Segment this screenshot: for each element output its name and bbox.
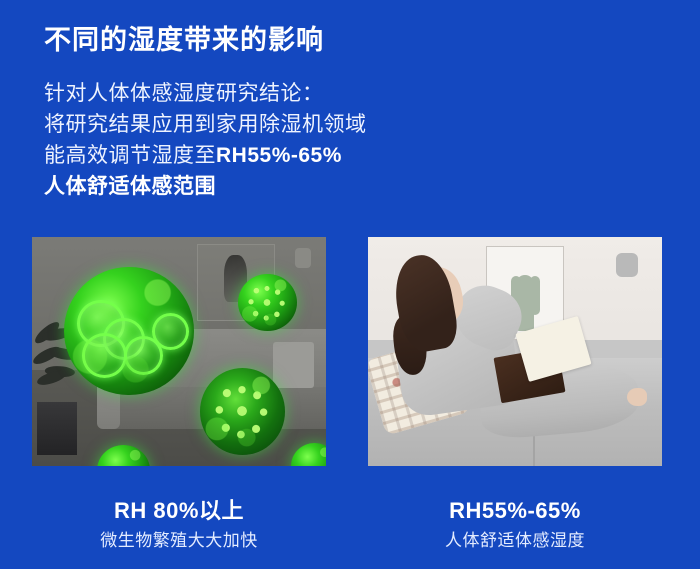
microbe-cell [77, 300, 124, 347]
wall-speaker-dark [295, 248, 311, 268]
panel-high-humidity-image [32, 237, 326, 466]
caption-comfort-humidity: RH55%-65% 人体舒适体感湿度 [368, 497, 662, 553]
dark-room-scene [32, 237, 326, 466]
microbe-cell [103, 318, 145, 360]
panel-comfort-humidity-image [368, 237, 662, 466]
microbe-spikes [215, 383, 270, 439]
plant-pot [37, 402, 77, 455]
plant-leaf [36, 369, 68, 387]
microbe-spikes [248, 284, 286, 321]
comparison-panels [0, 237, 700, 466]
cactus-arm [530, 276, 540, 314]
bright-room-scene [368, 237, 662, 466]
caption-comfort-humidity-title: RH55%-65% [368, 497, 662, 525]
microbe-sphere-partial [97, 445, 150, 466]
microbe-sphere-large [64, 267, 193, 395]
caption-comfort-humidity-subtitle: 人体舒适体感湿度 [368, 529, 662, 553]
humidity-range-highlight: RH55%-65% [216, 144, 342, 167]
humidity-comparison-poster: 不同的湿度带来的影响 针对人体体感湿度研究结论： 将研究结果应用到家用除湿机领域… [0, 0, 700, 569]
intro-line-1: 针对人体体感湿度研究结论： [44, 78, 504, 109]
caption-high-humidity-title: RH 80%以上 [32, 497, 326, 525]
caption-high-humidity-subtitle: 微生物繁殖大大加快 [32, 529, 326, 553]
intro-paragraph: 针对人体体感湿度研究结论： 将研究结果应用到家用除湿机领域 能高效调节湿度至RH… [44, 78, 504, 202]
caption-high-humidity: RH 80%以上 微生物繁殖大大加快 [32, 497, 326, 553]
intro-line-3-text: 能高效调节湿度至 [44, 144, 216, 167]
page-title: 不同的湿度带来的影响 [44, 18, 324, 57]
intro-line-4: 人体舒适体感范围 [44, 171, 504, 202]
microbe-cell [124, 336, 164, 375]
microbe-sphere-partial [291, 443, 326, 466]
microbe-sphere-small [238, 274, 297, 331]
intro-line-3: 能高效调节湿度至RH55%-65% [44, 140, 504, 171]
microbe-cell [82, 333, 127, 377]
wall-speaker-light [616, 253, 638, 277]
intro-line-2: 将研究结果应用到家用除湿机领域 [44, 109, 504, 140]
microbe-sphere-bottom [200, 368, 285, 455]
person-foot [627, 388, 648, 406]
microbe-cell [152, 313, 189, 350]
